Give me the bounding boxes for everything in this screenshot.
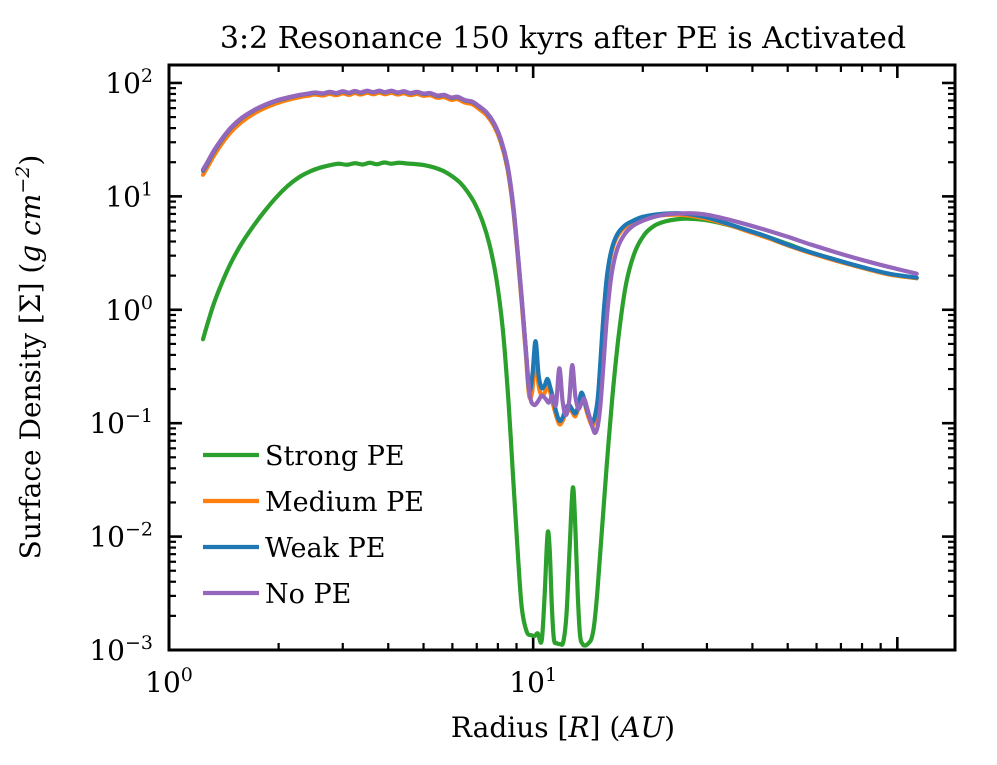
chart-title: 3:2 Resonance 150 kyrs after PE is Activ… <box>220 21 906 56</box>
legend-label-medium-pe: Medium PE <box>265 487 424 518</box>
x-axis-label: Radius [R] (AU) <box>451 711 675 744</box>
legend-label-strong-pe: Strong PE <box>265 441 405 472</box>
y-axis-label: Surface Density [Σ] (g cm−2) <box>12 155 47 560</box>
legend-label-no-pe: No PE <box>265 579 351 610</box>
line-chart: 3:2 Resonance 150 kyrs after PE is Activ… <box>0 0 997 765</box>
x-axis-label-group: Radius [R] (AU) <box>451 711 675 744</box>
y-axis-label-group: Surface Density [Σ] (g cm−2) <box>12 155 47 560</box>
legend-label-weak-pe: Weak PE <box>265 533 385 564</box>
figure-canvas: 3:2 Resonance 150 kyrs after PE is Activ… <box>0 0 997 765</box>
